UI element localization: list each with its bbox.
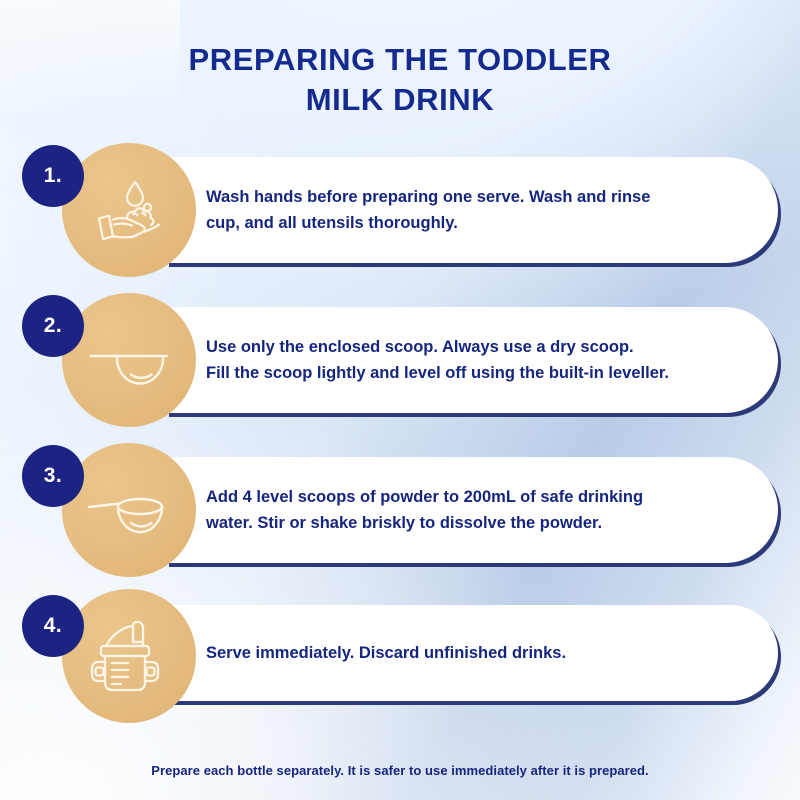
step-card-2: Use only the enclosed scoop. Always use … [166,307,778,413]
step-card-3: Add 4 level scoops of powder to 200mL of… [166,457,778,563]
sippy-cup-icon [85,612,173,700]
step-number-badge-4: 4. [22,595,84,657]
step-text-3: Add 4 level scoops of powder to 200mL of… [206,484,751,536]
step-number-badge-2: 2. [22,295,84,357]
steps-list: Wash hands before preparing one serve. W… [0,143,800,723]
title-line-1: PREPARING THE TODDLER [0,40,800,80]
step-icon-circle-1 [62,143,196,277]
step-number-badge-1: 1. [22,145,84,207]
step-icon-circle-3 [62,443,196,577]
page-title: PREPARING THE TODDLER MILK DRINK [0,40,800,120]
step-card-4: Serve immediately. Discard unfinished dr… [166,605,778,701]
step-item-2: Use only the enclosed scoop. Always use … [0,293,800,443]
step-text-1: Wash hands before preparing one serve. W… [206,184,751,236]
title-line-2: MILK DRINK [0,80,800,120]
step-icon-circle-2 [62,293,196,427]
step-card-1: Wash hands before preparing one serve. W… [166,157,778,263]
scoop-with-handle-icon [82,463,176,557]
infographic-root: PREPARING THE TODDLER MILK DRINK Wash ha… [0,0,800,800]
step-item-4: Serve immediately. Discard unfinished dr… [0,593,800,723]
washing-hands-icon [85,166,173,254]
step-item-1: Wash hands before preparing one serve. W… [0,143,800,293]
step-number-badge-3: 3. [22,445,84,507]
level-scoop-icon [83,314,175,406]
step-item-3: Add 4 level scoops of powder to 200mL of… [0,443,800,593]
footer-note: Prepare each bottle separately. It is sa… [0,763,800,778]
step-text-4: Serve immediately. Discard unfinished dr… [206,640,751,666]
step-text-2: Use only the enclosed scoop. Always use … [206,334,751,386]
step-icon-circle-4 [62,589,196,723]
